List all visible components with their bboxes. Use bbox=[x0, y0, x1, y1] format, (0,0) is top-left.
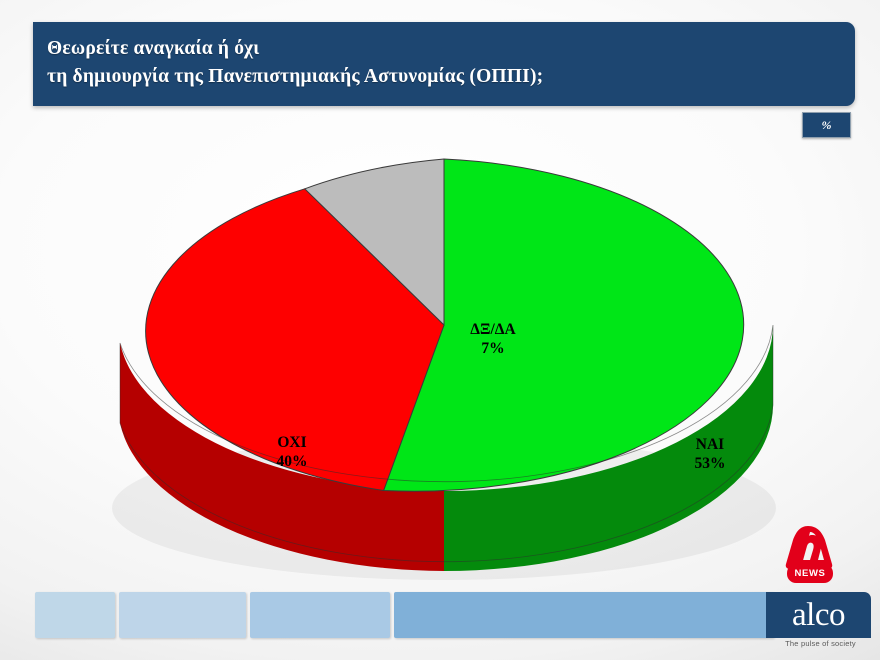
page-title: Θεωρείτε αναγκαία ή όχι τη δημιουργία τη… bbox=[47, 35, 543, 91]
pie-label-nai-value: 53% bbox=[655, 454, 765, 473]
pie-label-dk-da-value: 7% bbox=[438, 339, 548, 358]
footer-segment-3 bbox=[250, 592, 390, 638]
pie-label-nai: ΝΑΙ 53% bbox=[655, 435, 765, 473]
pie-label-oxi-name: ΟΧΙ bbox=[237, 433, 347, 452]
alco-logo: alco The pulse of society bbox=[766, 592, 871, 650]
footer-segment-1 bbox=[35, 592, 115, 638]
slide-canvas: Θεωρείτε αναγκαία ή όχι τη δημιουργία τη… bbox=[0, 0, 880, 660]
footer-segment-bar bbox=[0, 592, 880, 638]
alco-wordmark: alco bbox=[792, 599, 845, 632]
pie-label-dk-da-name: ΔΞ/ΔΑ bbox=[438, 320, 548, 339]
footer-segment-4 bbox=[394, 592, 774, 638]
alco-tagline: The pulse of society bbox=[770, 639, 871, 648]
pie-chart: ΝΑΙ 53% ΟΧΙ 40% ΔΞ/ΔΑ 7% bbox=[90, 140, 810, 590]
header-bar: Θεωρείτε αναγκαία ή όχι τη δημιουργία τη… bbox=[33, 22, 855, 106]
percent-unit-badge: % bbox=[802, 112, 851, 138]
alpha-news-badge: NEWS bbox=[787, 564, 833, 583]
alco-logo-box: alco bbox=[766, 592, 871, 638]
pie-label-oxi-value: 40% bbox=[237, 452, 347, 471]
footer-segment-2 bbox=[119, 592, 246, 638]
pie-label-dk-da: ΔΞ/ΔΑ 7% bbox=[438, 320, 548, 358]
page-title-line-1: Θεωρείτε αναγκαία ή όχι bbox=[47, 35, 543, 63]
pie-label-nai-name: ΝΑΙ bbox=[655, 435, 765, 454]
pie-label-oxi: ΟΧΙ 40% bbox=[237, 433, 347, 471]
pie-chart-svg bbox=[90, 140, 810, 590]
page-title-line-2: τη δημιουργία της Πανεπιστημιακής Αστυνο… bbox=[47, 63, 543, 91]
alpha-news-logo: NEWS bbox=[784, 524, 836, 590]
